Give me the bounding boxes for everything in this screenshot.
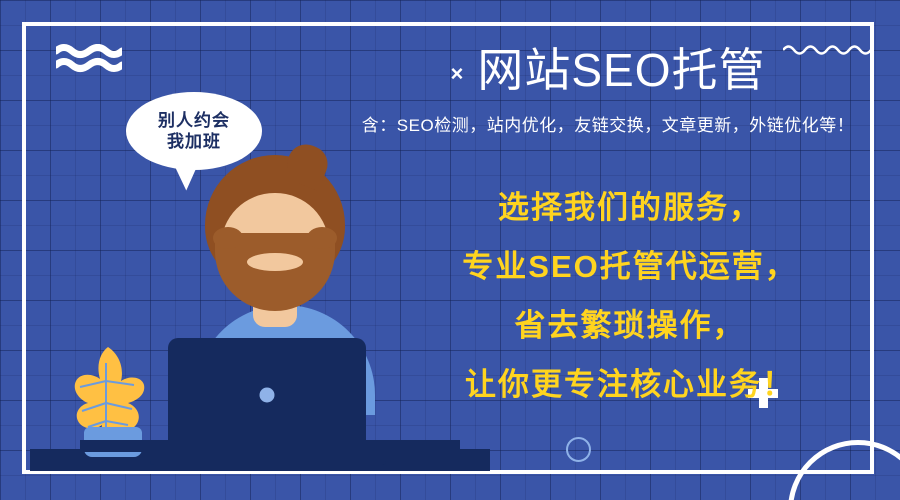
slogan-line: 省去繁琐操作， <box>410 310 850 341</box>
wavy-lines-icon <box>56 44 122 74</box>
slogan-block: 选择我们的服务， 专业SEO托管代运营， 省去繁琐操作， 让你更专注核心业务！ <box>410 192 850 400</box>
slogan-line: 专业SEO托管代运营， <box>410 251 850 282</box>
person-beard-left <box>213 227 243 249</box>
speech-bubble: 别人约会 我加班 <box>126 92 262 170</box>
page-subtitle: 含：SEO检测，站内优化，友链交换，文章更新，外链优化等！ <box>330 111 886 136</box>
potted-plant-icon <box>58 345 163 455</box>
slogan-line: 让你更专注核心业务！ <box>410 369 850 400</box>
header-block: × 网站SEO托管 含：SEO检测，站内优化，友链交换，文章更新，外链优化等！ <box>330 44 886 136</box>
person-mouth <box>247 253 303 271</box>
title-row: × 网站SEO托管 <box>330 44 886 97</box>
slogan-line: 选择我们的服务， <box>410 192 850 223</box>
desk-edge <box>80 440 460 452</box>
speech-bubble-line-1: 别人约会 <box>158 110 230 131</box>
laptop-icon <box>168 338 366 452</box>
close-icon: × <box>450 63 463 85</box>
person-beard-right <box>307 227 337 249</box>
seo-promo-banner: 别人约会 我加班 × 网站SEO托管 含：SEO检测，站内优化，友链交换，文章更… <box>0 0 900 500</box>
laptop-logo-dot <box>260 388 275 403</box>
page-title: 网站SEO托管 <box>477 44 765 97</box>
speech-bubble-line-2: 我加班 <box>167 131 221 152</box>
small-circle-outline-icon <box>566 437 591 462</box>
